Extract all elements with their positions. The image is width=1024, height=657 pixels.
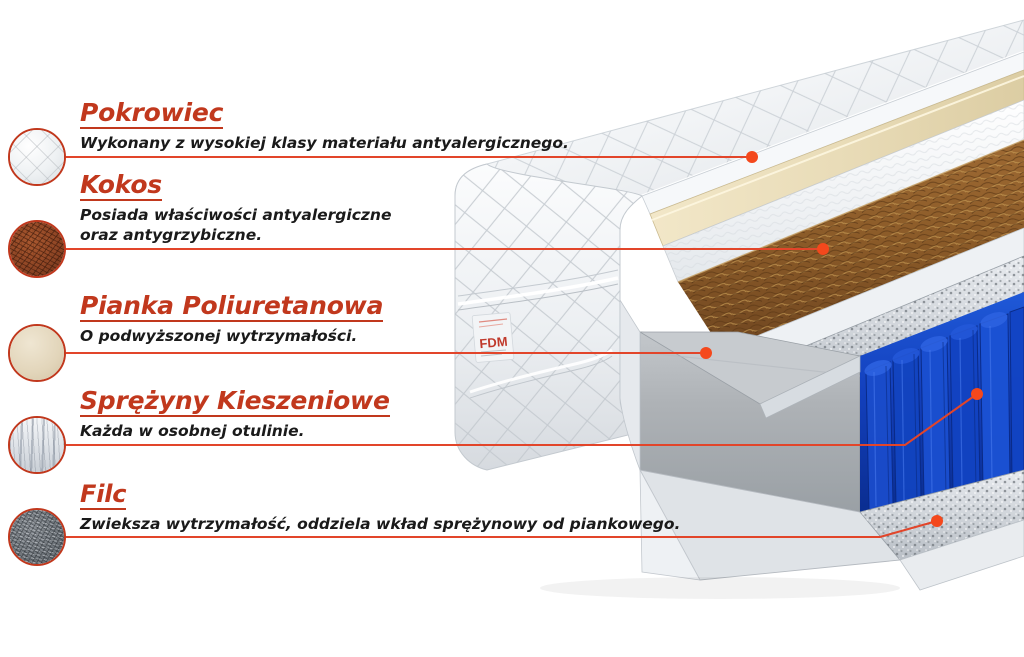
felt-swatch xyxy=(8,508,66,566)
leader-dot-pianka xyxy=(700,347,712,359)
leader-dot-sprezyny xyxy=(971,388,983,400)
callout-pokrowiec: Pokrowiec Wykonany z wysokiej klasy mate… xyxy=(80,100,569,154)
callout-title-filc: Filc xyxy=(80,482,126,510)
callout-desc-kokos-line2: oraz antygrzybiczne. xyxy=(80,226,391,246)
coconut-fiber-texture xyxy=(10,222,64,276)
polyurethane-foam-swatch xyxy=(8,324,66,382)
quilted-cover-texture xyxy=(10,130,64,184)
pocket-springs-texture xyxy=(10,418,64,472)
callout-desc-pianka: O podwyższonej wytrzymałości. xyxy=(80,327,383,347)
quilted-cover-swatch xyxy=(8,128,66,186)
callout-kokos: Kokos Posiada właściwości antyalergiczne… xyxy=(80,172,391,246)
callout-desc-kokos-line1: Posiada właściwości antyalergiczne xyxy=(80,206,391,226)
callout-sprezyny-kieszeniowe: Sprężyny Kieszeniowe Każda w osobnej otu… xyxy=(80,388,390,442)
callout-desc-filc: Zwieksza wytrzymałość, oddziela wkład sp… xyxy=(80,515,680,535)
leader-dot-filc xyxy=(931,515,943,527)
callout-title-pianka: Pianka Poliuretanowa xyxy=(80,293,383,322)
callout-desc-sprezyny: Każda w osobnej otulinie. xyxy=(80,422,390,442)
pocket-springs-swatch xyxy=(8,416,66,474)
callout-title-pokrowiec: Pokrowiec xyxy=(80,100,223,129)
polyurethane-foam-texture xyxy=(10,326,64,380)
callout-title-sprezyny: Sprężyny Kieszeniowe xyxy=(80,388,390,417)
callout-filc: Filc Zwieksza wytrzymałość, oddziela wkł… xyxy=(80,482,680,535)
callout-desc-pokrowiec: Wykonany z wysokiej klasy materiału anty… xyxy=(80,134,569,154)
coconut-fiber-swatch xyxy=(8,220,66,278)
infographic-canvas: FDM xyxy=(0,0,1024,657)
callout-title-kokos: Kokos xyxy=(80,172,162,201)
leader-dot-pokrowiec xyxy=(746,151,758,163)
leader-dot-kokos xyxy=(817,243,829,255)
callout-pianka-poliuretanowa: Pianka Poliuretanowa O podwyższonej wytr… xyxy=(80,293,383,347)
felt-texture xyxy=(10,510,64,564)
